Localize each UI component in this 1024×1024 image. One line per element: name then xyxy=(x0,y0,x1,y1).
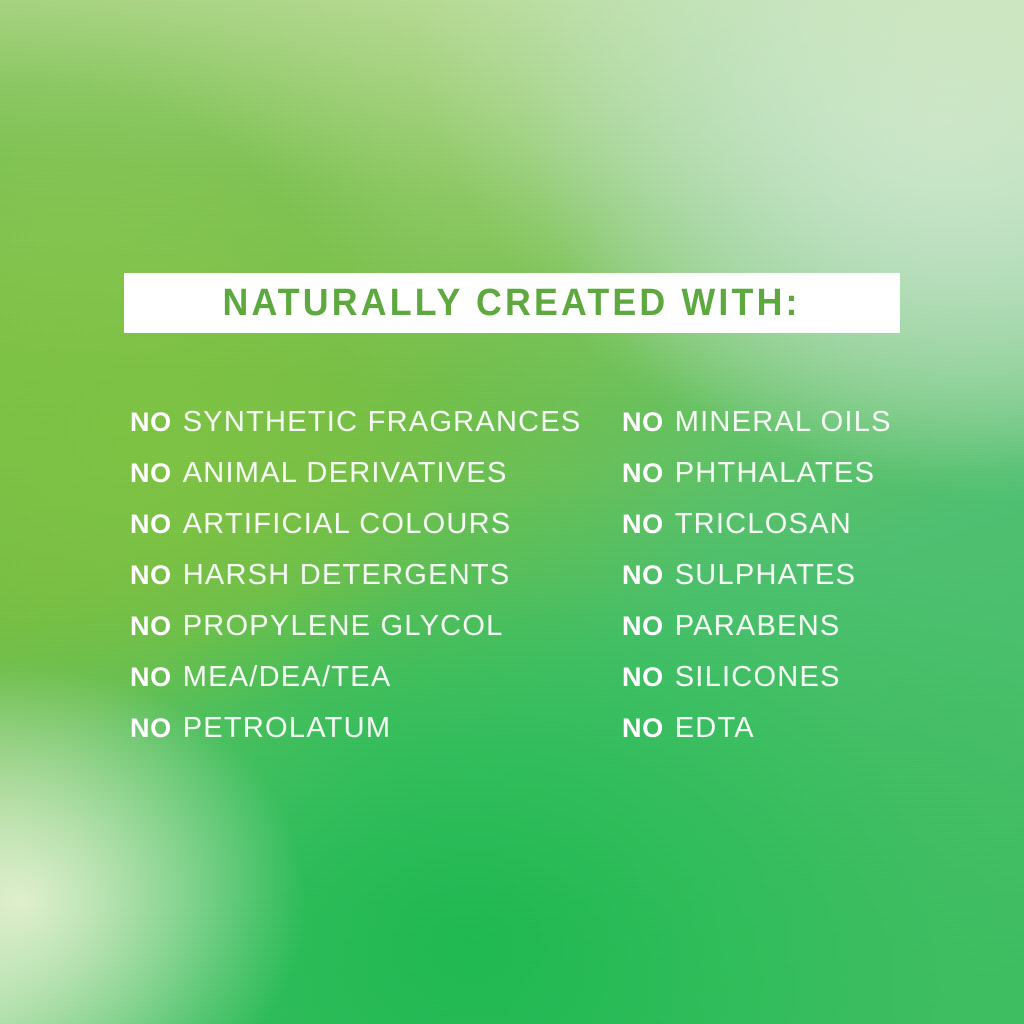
list-item: NO ANIMAL DERIVATIVES xyxy=(130,457,582,508)
list-item: NO SULPHATES xyxy=(622,559,892,610)
ingredient-label: SYNTHETIC FRAGRANCES xyxy=(183,406,582,439)
no-prefix-label: NO xyxy=(130,509,172,540)
list-item: NO SYNTHETIC FRAGRANCES xyxy=(130,406,582,457)
promo-graphic: NATURALLY CREATED WITH: NO SYNTHETIC FRA… xyxy=(0,0,1024,1024)
list-item: NO TRICLOSAN xyxy=(622,508,892,559)
no-prefix-label: NO xyxy=(622,713,664,744)
list-item: NO MEA/DEA/TEA xyxy=(130,661,582,712)
no-prefix-label: NO xyxy=(622,407,664,438)
ingredient-label: PETROLATUM xyxy=(183,712,392,745)
no-prefix-label: NO xyxy=(622,662,664,693)
ingredient-label: PHTHALATES xyxy=(675,457,876,490)
no-prefix-label: NO xyxy=(130,611,172,642)
list-item: NO SILICONES xyxy=(622,661,892,712)
ingredient-label: PARABENS xyxy=(675,610,841,643)
title-banner: NATURALLY CREATED WITH: xyxy=(124,273,900,333)
exclusion-column-right: NO MINERAL OILS NO PHTHALATES NO TRICLOS… xyxy=(622,406,892,763)
ingredient-label: PROPYLENE GLYCOL xyxy=(183,610,504,643)
no-prefix-label: NO xyxy=(130,458,172,489)
ingredient-label: EDTA xyxy=(675,712,755,745)
ingredient-label: SULPHATES xyxy=(675,559,857,592)
list-item: NO EDTA xyxy=(622,712,892,763)
ingredient-label: SILICONES xyxy=(675,661,841,694)
page-title: NATURALLY CREATED WITH: xyxy=(223,284,801,322)
list-item: NO PETROLATUM xyxy=(130,712,582,763)
ingredient-label: ANIMAL DERIVATIVES xyxy=(183,457,508,490)
list-item: NO PARABENS xyxy=(622,610,892,661)
ingredient-label: HARSH DETERGENTS xyxy=(183,559,511,592)
no-prefix-label: NO xyxy=(622,611,664,642)
list-item: NO PROPYLENE GLYCOL xyxy=(130,610,582,661)
list-item: NO PHTHALATES xyxy=(622,457,892,508)
ingredient-label: ARTIFICIAL COLOURS xyxy=(183,508,512,541)
ingredient-label: TRICLOSAN xyxy=(675,508,852,541)
no-prefix-label: NO xyxy=(130,713,172,744)
no-prefix-label: NO xyxy=(130,662,172,693)
no-prefix-label: NO xyxy=(622,509,664,540)
list-item: NO HARSH DETERGENTS xyxy=(130,559,582,610)
ingredient-label: MEA/DEA/TEA xyxy=(183,661,392,694)
no-prefix-label: NO xyxy=(130,407,172,438)
list-item: NO MINERAL OILS xyxy=(622,406,892,457)
list-item: NO ARTIFICIAL COLOURS xyxy=(130,508,582,559)
no-prefix-label: NO xyxy=(622,560,664,591)
no-prefix-label: NO xyxy=(130,560,172,591)
exclusion-list: NO SYNTHETIC FRAGRANCES NO ANIMAL DERIVA… xyxy=(0,406,1024,786)
exclusion-column-left: NO SYNTHETIC FRAGRANCES NO ANIMAL DERIVA… xyxy=(130,406,582,763)
ingredient-label: MINERAL OILS xyxy=(675,406,892,439)
no-prefix-label: NO xyxy=(622,458,664,489)
